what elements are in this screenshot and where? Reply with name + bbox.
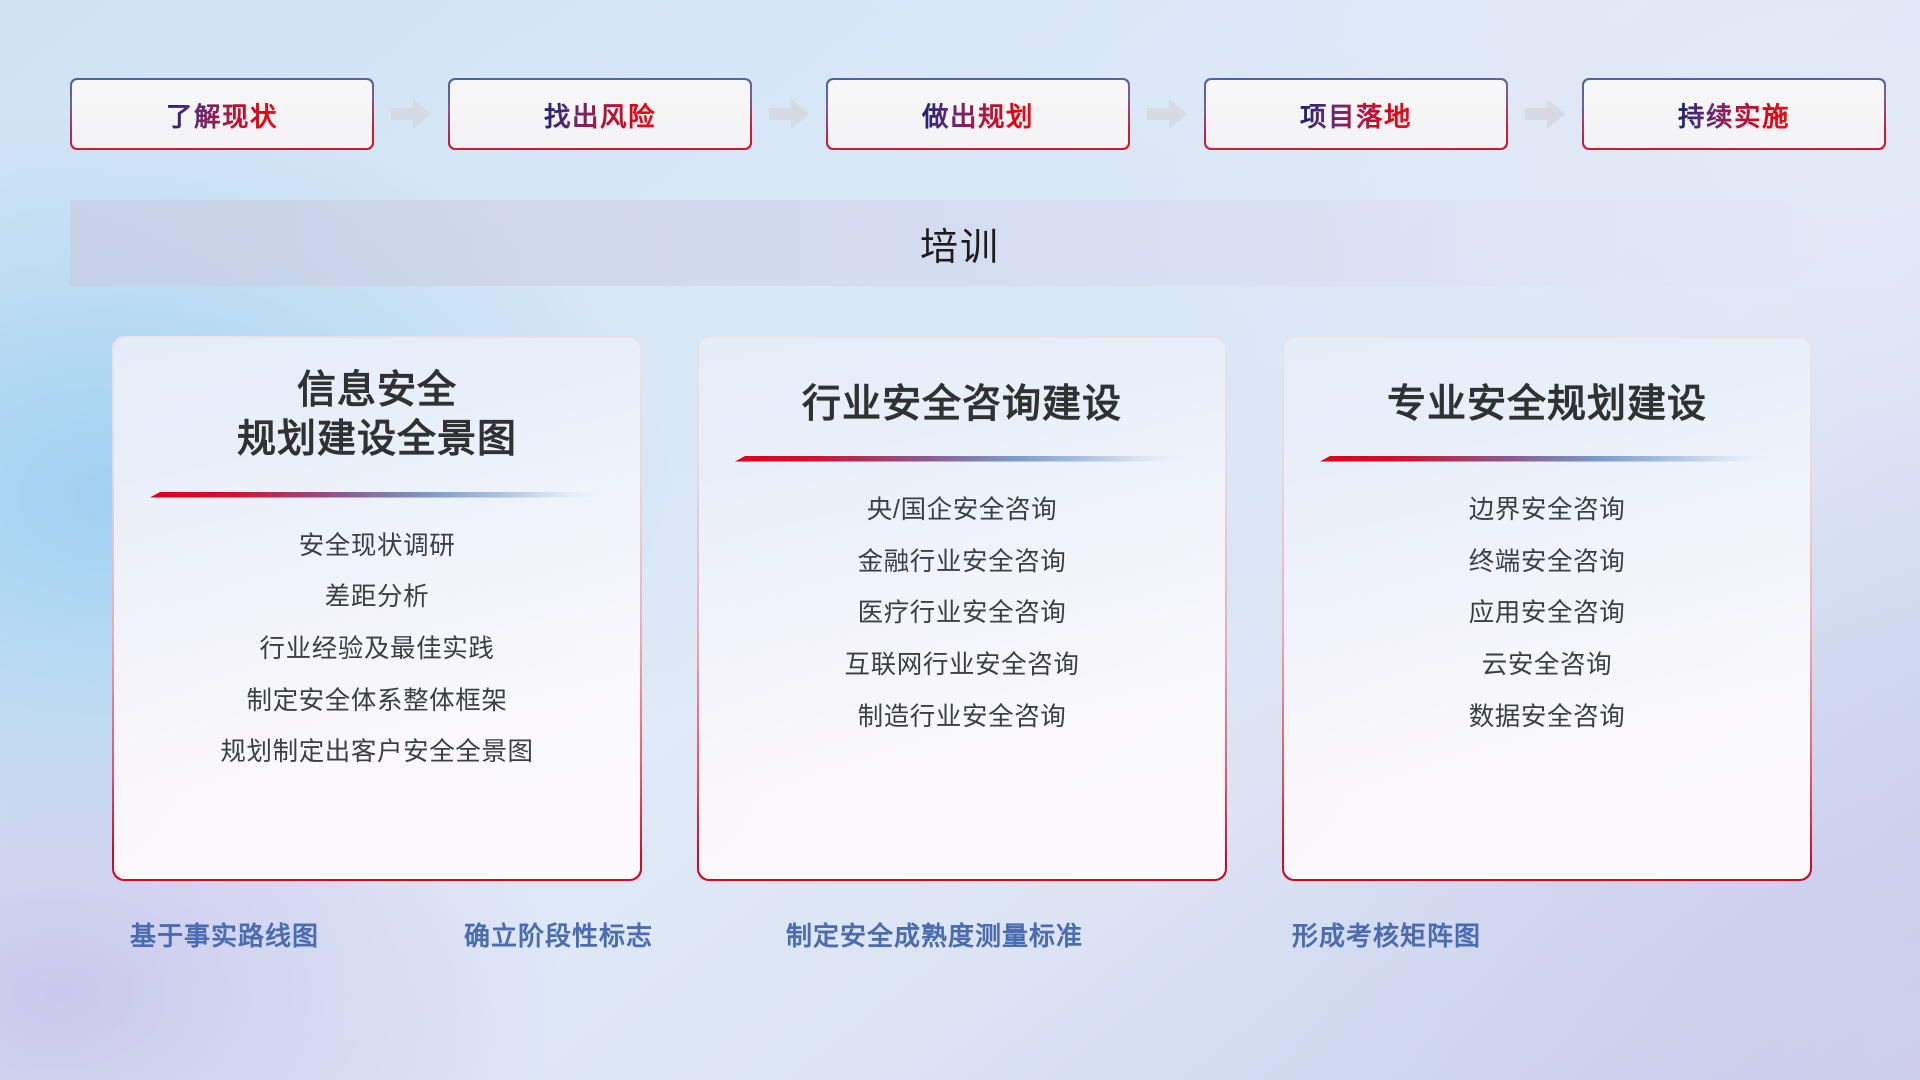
step-box-5[interactable]: 持续实施 — [1582, 78, 1886, 150]
step-box-inner: 找出风险 — [450, 80, 751, 149]
step-box-4[interactable]: 项目落地 — [1204, 78, 1508, 150]
step-box-inner: 做出规划 — [828, 80, 1129, 149]
list-item[interactable]: 终端安全咨询 — [1469, 547, 1626, 578]
step-label: 持续实施 — [1678, 95, 1790, 134]
list-item[interactable]: 安全现状调研 — [299, 531, 456, 562]
step-arrow-icon — [1130, 97, 1204, 131]
process-step-bar: 了解现状找出风险做出规划项目落地持续实施 — [70, 78, 1850, 150]
slide-canvas: 了解现状找出风险做出规划项目落地持续实施 培训 信息安全规划建设全景图安全现状调… — [0, 0, 1920, 1080]
training-banner-label: 培训 — [70, 200, 1850, 286]
card-inner: 信息安全规划建设全景图安全现状调研差距分析行业经验及最佳实践制定安全体系整体框架… — [114, 338, 641, 880]
step-box-inner: 项目落地 — [1206, 80, 1507, 149]
list-item[interactable]: 制定安全体系整体框架 — [246, 686, 507, 717]
list-item[interactable]: 边界安全咨询 — [1469, 495, 1626, 526]
list-item[interactable]: 云安全咨询 — [1482, 650, 1613, 681]
training-banner: 培训 — [70, 200, 1850, 286]
card-title: 信息安全规划建设全景图 — [114, 366, 641, 465]
card-list: 央/国企安全咨询金融行业安全咨询医疗行业安全咨询互联网行业安全咨询制造行业安全咨… — [699, 495, 1226, 732]
card-title-line: 专业安全规划建设 — [1302, 380, 1793, 430]
list-item[interactable]: 差距分析 — [325, 582, 429, 613]
card-group: 信息安全规划建设全景图安全现状调研差距分析行业经验及最佳实践制定安全体系整体框架… — [112, 336, 1812, 881]
step-label: 做出规划 — [922, 95, 1034, 134]
step-label: 找出风险 — [544, 95, 656, 134]
step-box-1[interactable]: 了解现状 — [70, 78, 374, 150]
list-item[interactable]: 金融行业安全咨询 — [858, 547, 1067, 578]
list-item[interactable]: 应用安全咨询 — [1469, 598, 1626, 629]
step-box-inner: 了解现状 — [72, 80, 373, 149]
step-box-3[interactable]: 做出规划 — [826, 78, 1130, 150]
step-box-inner: 持续实施 — [1584, 80, 1885, 149]
list-item[interactable]: 制造行业安全咨询 — [858, 702, 1067, 733]
card-divider — [150, 491, 605, 501]
step-arrow-icon — [374, 97, 448, 131]
card-title-line: 信息安全 — [132, 366, 623, 416]
card-divider — [1320, 455, 1775, 465]
card-title: 专业安全规划建设 — [1284, 380, 1811, 430]
list-item[interactable]: 央/国企安全咨询 — [867, 495, 1057, 526]
footnote-4: 形成考核矩阵图 — [1292, 916, 1481, 953]
list-item[interactable]: 互联网行业安全咨询 — [845, 650, 1080, 681]
footnote-1: 基于事实路线图 — [130, 916, 319, 953]
list-item[interactable]: 规划制定出客户安全全景图 — [220, 737, 533, 768]
footnote-group: 基于事实路线图确立阶段性标志制定安全成熟度测量标准形成考核矩阵图 — [0, 916, 1920, 964]
card-title: 行业安全咨询建设 — [699, 380, 1226, 430]
step-label: 项目落地 — [1300, 95, 1412, 134]
card-inner: 专业安全规划建设边界安全咨询终端安全咨询应用安全咨询云安全咨询数据安全咨询 — [1284, 338, 1811, 880]
list-item[interactable]: 数据安全咨询 — [1469, 702, 1626, 733]
card-list: 安全现状调研差距分析行业经验及最佳实践制定安全体系整体框架规划制定出客户安全全景… — [114, 531, 641, 768]
card-list: 边界安全咨询终端安全咨询应用安全咨询云安全咨询数据安全咨询 — [1284, 495, 1811, 732]
footnote-2: 确立阶段性标志 — [464, 916, 653, 953]
list-item[interactable]: 行业经验及最佳实践 — [260, 634, 495, 665]
card-2[interactable]: 行业安全咨询建设央/国企安全咨询金融行业安全咨询医疗行业安全咨询互联网行业安全咨… — [697, 336, 1227, 881]
card-title-line: 行业安全咨询建设 — [717, 380, 1208, 430]
footnote-3: 制定安全成熟度测量标准 — [786, 916, 1083, 953]
step-arrow-icon — [752, 97, 826, 131]
list-item[interactable]: 医疗行业安全咨询 — [858, 598, 1067, 629]
card-3[interactable]: 专业安全规划建设边界安全咨询终端安全咨询应用安全咨询云安全咨询数据安全咨询 — [1282, 336, 1812, 881]
card-inner: 行业安全咨询建设央/国企安全咨询金融行业安全咨询医疗行业安全咨询互联网行业安全咨… — [699, 338, 1226, 880]
step-label: 了解现状 — [166, 95, 278, 134]
card-divider — [735, 455, 1190, 465]
step-arrow-icon — [1508, 97, 1582, 131]
step-box-2[interactable]: 找出风险 — [448, 78, 752, 150]
card-title-line: 规划建设全景图 — [132, 415, 623, 465]
card-1[interactable]: 信息安全规划建设全景图安全现状调研差距分析行业经验及最佳实践制定安全体系整体框架… — [112, 336, 642, 881]
